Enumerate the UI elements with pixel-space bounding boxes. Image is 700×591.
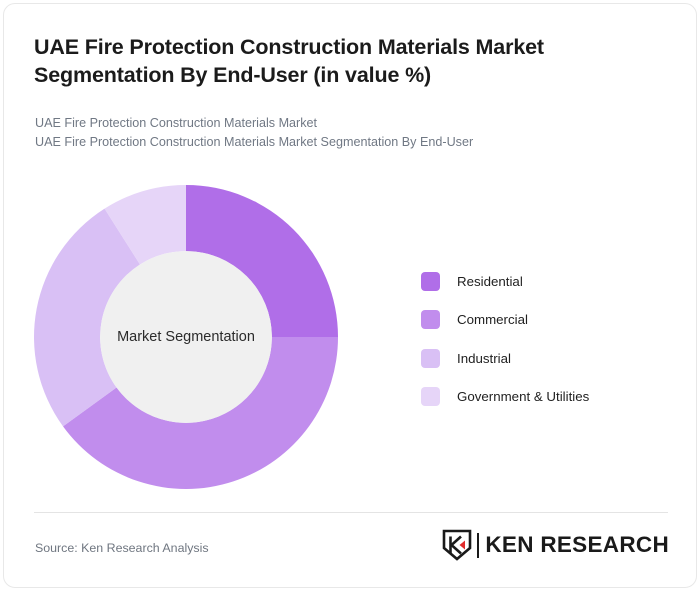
legend-swatch-icon: [421, 349, 440, 368]
footer-divider: [34, 512, 668, 513]
donut-chart: Market Segmentation: [32, 183, 340, 491]
legend-swatch-icon: [421, 272, 440, 291]
chart-area: Market Segmentation ResidentialCommercia…: [4, 4, 697, 524]
shield-k-icon: [441, 529, 473, 561]
logo-text: KEN RESEARCH: [485, 532, 669, 558]
ken-research-logo: KEN RESEARCH: [441, 528, 669, 562]
legend-label: Government & Utilities: [457, 389, 589, 404]
legend-swatch-icon: [421, 387, 440, 406]
legend-item[interactable]: Residential: [421, 262, 589, 301]
legend-item[interactable]: Government & Utilities: [421, 378, 589, 417]
logo-separator: [477, 533, 479, 558]
source-note: Source: Ken Research Analysis: [35, 541, 209, 555]
legend-item[interactable]: Industrial: [421, 339, 589, 378]
donut-svg: [32, 183, 340, 491]
legend-item[interactable]: Commercial: [421, 301, 589, 340]
legend-label: Residential: [457, 274, 523, 289]
legend-label: Commercial: [457, 312, 528, 327]
legend-swatch-icon: [421, 310, 440, 329]
legend-label: Industrial: [457, 351, 511, 366]
donut-hole: [100, 251, 272, 423]
chart-legend: ResidentialCommercialIndustrialGovernmen…: [421, 262, 589, 416]
chart-card: UAE Fire Protection Construction Materia…: [3, 3, 697, 588]
